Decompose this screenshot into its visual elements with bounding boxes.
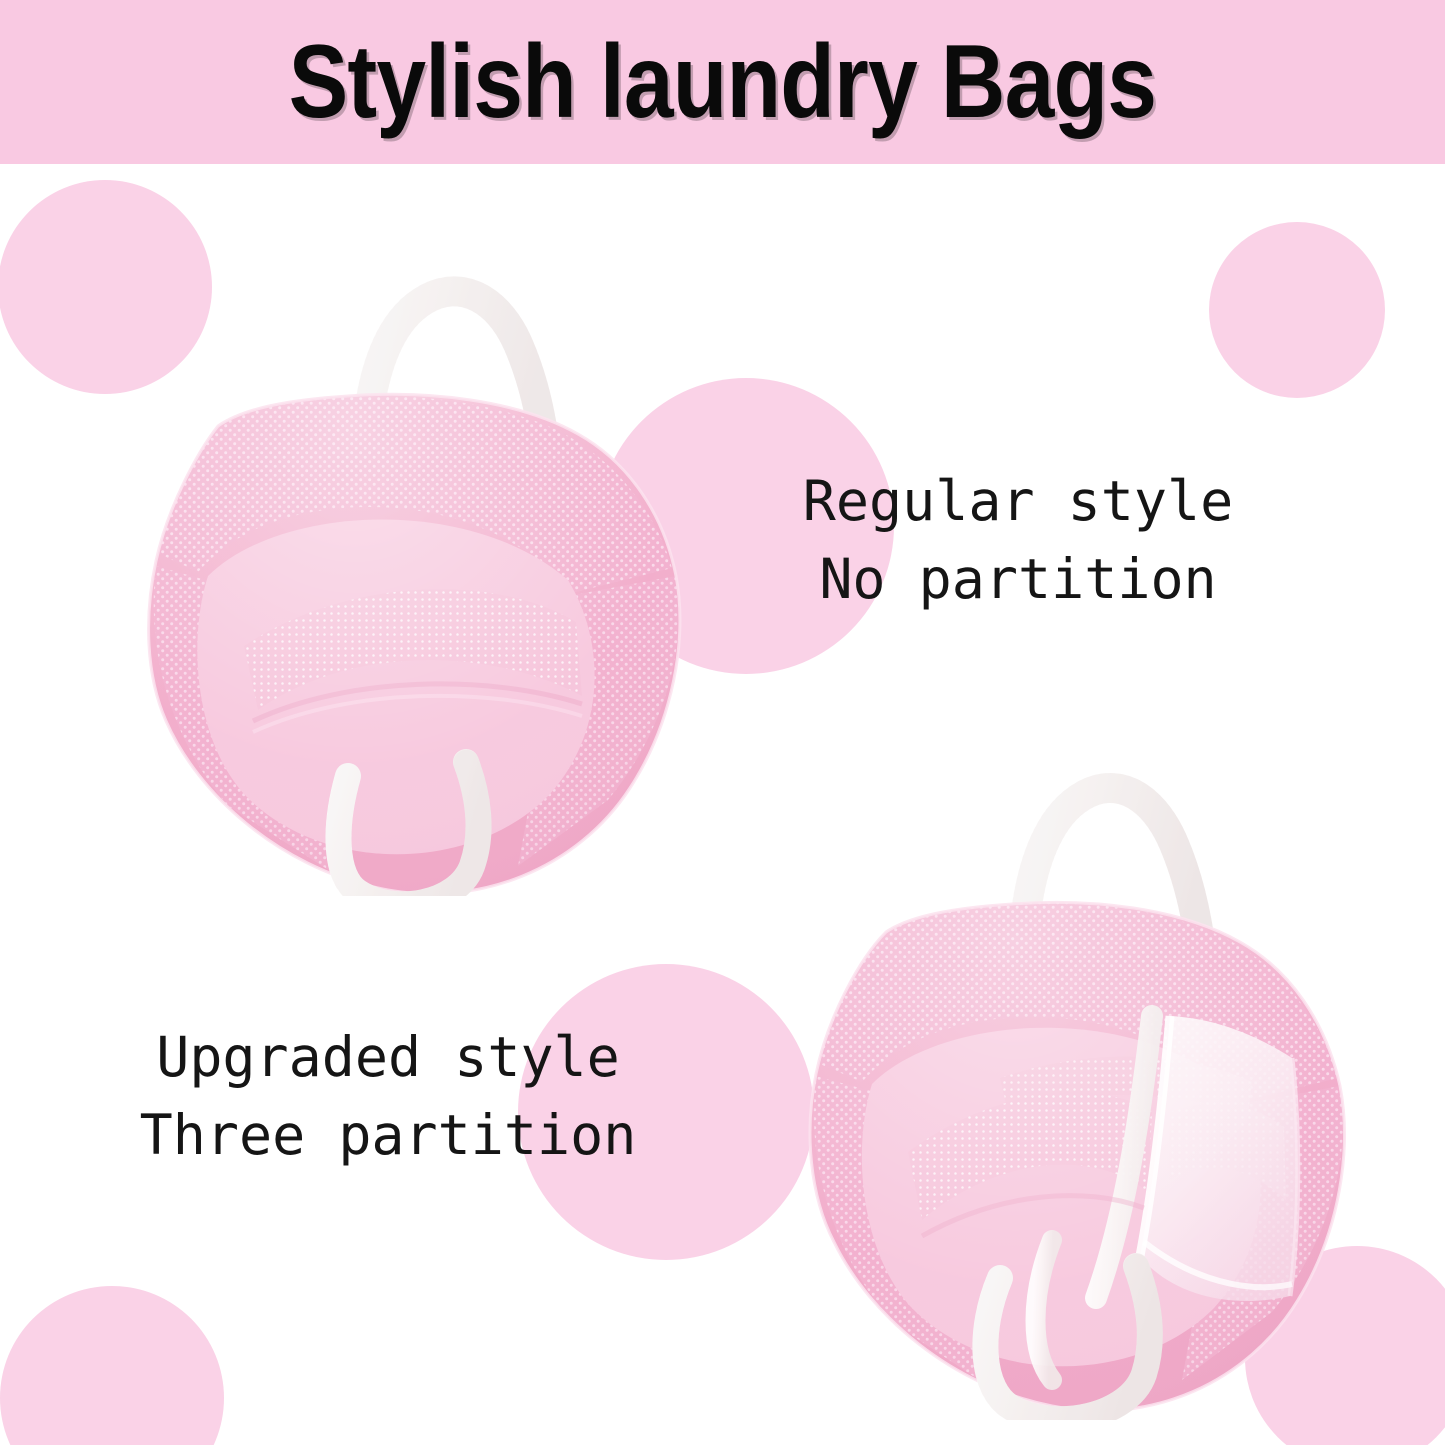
decorative-dot-bottom-left xyxy=(0,1286,224,1445)
upgraded-style-caption: Upgraded style Three partition xyxy=(78,1018,698,1174)
bag-body xyxy=(700,680,1400,1420)
upgraded-laundry-bag-photo xyxy=(700,680,1400,1420)
page-title: Stylish laundry Bags xyxy=(289,30,1157,134)
decorative-dot-top-right xyxy=(1209,222,1385,398)
infographic-page: Regular style No partition xyxy=(0,0,1445,1445)
upgraded-style-caption-line1: Upgraded style xyxy=(78,1018,698,1096)
regular-laundry-bag-photo xyxy=(48,176,728,896)
regular-style-caption-line1: Regular style xyxy=(738,462,1298,540)
regular-style-caption-line2: No partition xyxy=(738,540,1298,618)
header-banner: Stylish laundry Bags xyxy=(0,0,1445,164)
regular-style-caption: Regular style No partition xyxy=(738,462,1298,618)
bag-body xyxy=(48,176,728,896)
upgraded-style-caption-line2: Three partition xyxy=(78,1096,698,1174)
